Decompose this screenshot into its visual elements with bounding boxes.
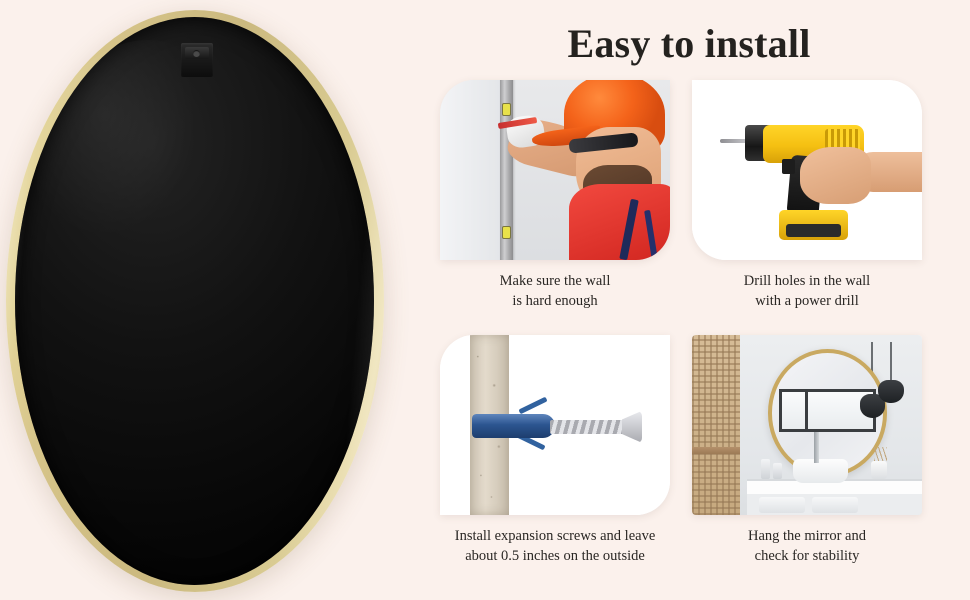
wall-mount-bracket-icon — [181, 43, 213, 77]
step-1-caption: Make sure the wall is hard enough — [440, 271, 670, 311]
wall-surface — [440, 80, 500, 260]
step-3-image — [440, 335, 670, 515]
product-image-panel — [0, 0, 408, 600]
step-2-caption: Drill holes in the wall with a power dri… — [692, 271, 922, 311]
step-card-1: Make sure the wall is hard enough — [440, 80, 670, 325]
blue-expansion-anchor-icon — [472, 414, 555, 437]
page-title: Easy to install — [408, 20, 970, 67]
drill-battery-base — [786, 224, 841, 237]
step-4-caption: Hang the mirror and check for stability — [692, 526, 922, 566]
step-1-caption-line-2: is hard enough — [440, 291, 670, 311]
scene-power-drill — [692, 80, 922, 260]
folded-towel-2 — [812, 497, 858, 513]
mirror-back-panel — [15, 17, 374, 585]
folded-towel-1 — [759, 497, 805, 513]
pendant-cord-2 — [890, 342, 892, 382]
scene-bathroom-mirror — [692, 335, 922, 515]
step-4-caption-line-1: Hang the mirror and — [692, 526, 922, 546]
step-1-image — [440, 80, 670, 260]
mirror-sheen — [37, 40, 260, 335]
rattan-panel — [692, 335, 740, 515]
step-3-caption-line-1: Install expansion screws and leave — [440, 526, 670, 546]
rattan-panel-band — [692, 447, 740, 454]
toiletry-bottle-2 — [773, 463, 782, 479]
step-4-image — [692, 335, 922, 515]
screw-head — [622, 411, 643, 443]
level-vial-bottom — [502, 226, 511, 239]
step-card-4: Hang the mirror and check for stability — [692, 335, 922, 580]
screw-shaft-icon — [550, 420, 626, 434]
reed-diffuser-sticks — [874, 447, 888, 461]
faucet-icon — [814, 432, 819, 463]
step-3-caption-line-2: about 0.5 inches on the outside — [440, 546, 670, 566]
step-card-3: Install expansion screws and leave about… — [440, 335, 670, 580]
step-2-image — [692, 80, 922, 260]
toiletry-bottle-1 — [761, 459, 770, 479]
install-steps-panel: Easy to install — [408, 0, 970, 600]
pendant-shade-2 — [878, 380, 903, 403]
window-mullion — [805, 389, 808, 432]
step-1-caption-line-1: Make sure the wall — [440, 271, 670, 291]
step-2-caption-line-1: Drill holes in the wall — [692, 271, 922, 291]
sink-basin — [793, 459, 848, 482]
hand-gripping-drill — [800, 147, 871, 205]
spirit-level-icon — [500, 80, 513, 260]
drill-trigger — [782, 159, 796, 173]
infographic-page: Easy to install — [0, 0, 970, 600]
steps-grid: Make sure the wall is hard enough — [440, 80, 946, 580]
step-2-caption-line-2: with a power drill — [692, 291, 922, 311]
step-3-caption: Install expansion screws and leave about… — [440, 526, 670, 566]
step-card-2: Drill holes in the wall with a power dri… — [692, 80, 922, 325]
step-4-caption-line-2: check for stability — [692, 546, 922, 566]
scene-expansion-anchor — [440, 335, 670, 515]
level-vial-top — [502, 103, 511, 116]
round-mirror-product — [6, 10, 384, 592]
reed-diffuser-jar — [871, 461, 887, 479]
anchor-fin-top — [519, 397, 548, 415]
scene-worker-marking-wall — [440, 80, 670, 260]
